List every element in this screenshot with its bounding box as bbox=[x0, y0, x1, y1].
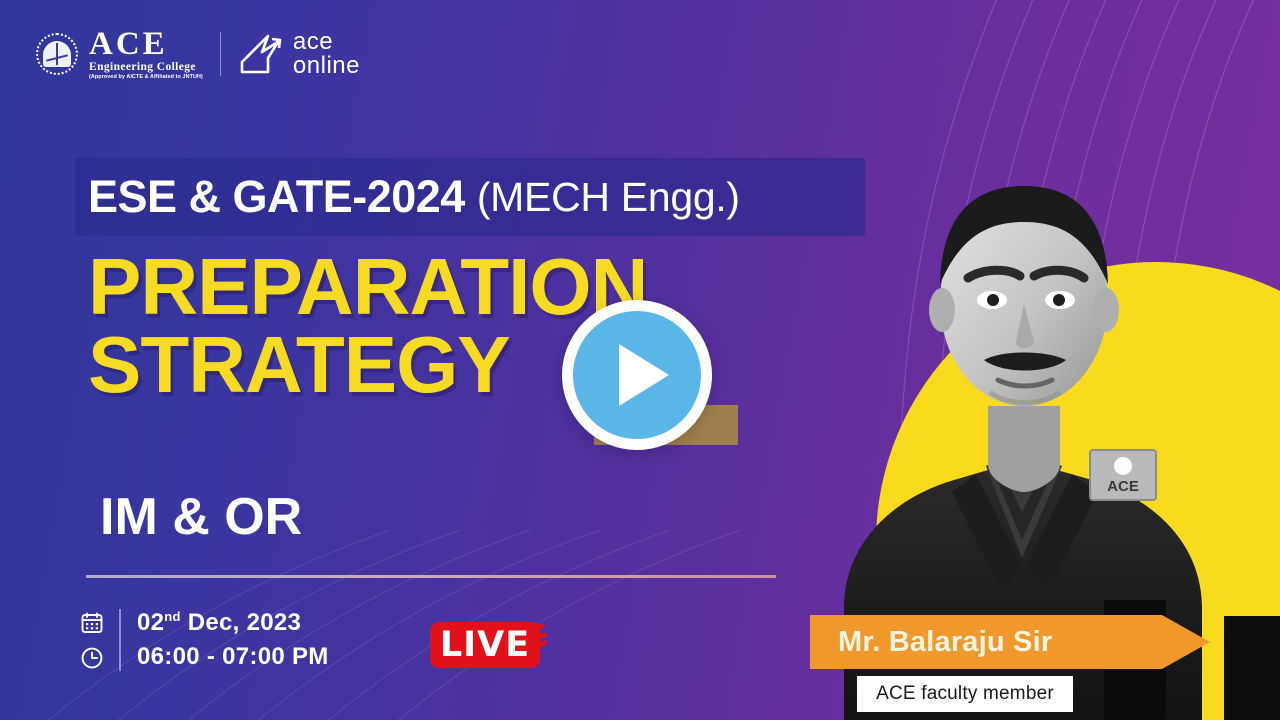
subject-heading: IM & OR bbox=[100, 487, 302, 547]
section-divider bbox=[86, 575, 776, 578]
svg-text:ACE: ACE bbox=[1107, 478, 1139, 495]
dark-strip-right bbox=[1224, 616, 1280, 720]
ace-id-badge: ACE bbox=[1090, 450, 1156, 500]
brand-logo-bar: ACE Engineering College (Approved by AIC… bbox=[34, 26, 360, 82]
ace-college-wordmark: ACE Engineering College (Approved by AIC… bbox=[89, 28, 203, 81]
presenter-role-box: ACE faculty member bbox=[857, 676, 1073, 712]
ace-online-logo: ace online bbox=[238, 30, 360, 77]
play-icon bbox=[619, 344, 669, 406]
presenter-role: ACE faculty member bbox=[876, 683, 1054, 705]
exam-title-row: ESE & GATE-2024 (MECH Engg.) bbox=[88, 163, 740, 231]
schedule-date-rest: Dec, 2023 bbox=[181, 609, 301, 636]
presenter-name-banner: Mr. Balaraju Sir bbox=[810, 615, 1210, 669]
schedule-time: 06:00 - 07:00 PM bbox=[137, 640, 329, 674]
schedule-date: 02nd Dec, 2023 bbox=[137, 606, 329, 640]
presenter-name: Mr. Balaraju Sir bbox=[838, 626, 1052, 659]
clock-icon bbox=[80, 646, 104, 670]
college-name: ACE bbox=[89, 28, 203, 61]
calendar-icon bbox=[80, 611, 104, 635]
exam-title-strong: ESE & GATE-2024 bbox=[88, 171, 465, 223]
main-heading-line1: PREPARATION bbox=[88, 242, 647, 331]
live-badge: LIVE bbox=[430, 612, 546, 666]
schedule-block: 02nd Dec, 2023 06:00 - 07:00 PM bbox=[80, 606, 329, 674]
schedule-date-ordinal: nd bbox=[164, 609, 180, 624]
live-pill: LIVE bbox=[430, 622, 540, 668]
ace-online-line1: ace bbox=[293, 30, 360, 54]
schedule-divider bbox=[119, 609, 121, 671]
ace-crest-icon bbox=[34, 31, 80, 77]
schedule-date-day: 02 bbox=[137, 609, 164, 636]
video-thumbnail-stage: ACE Engineering College (Approved by AIC… bbox=[0, 0, 1280, 720]
college-subtitle: Engineering College bbox=[89, 62, 203, 74]
college-accreditation: (Approved by AICTE & Affiliated to JNTUH… bbox=[89, 75, 203, 80]
exam-title-branch: (MECH Engg.) bbox=[477, 174, 740, 221]
ace-online-dart-icon bbox=[238, 32, 286, 76]
ace-online-line2: online bbox=[293, 54, 360, 78]
play-button[interactable] bbox=[562, 300, 712, 450]
live-label: LIVE bbox=[440, 625, 530, 665]
logo-divider bbox=[220, 32, 221, 76]
